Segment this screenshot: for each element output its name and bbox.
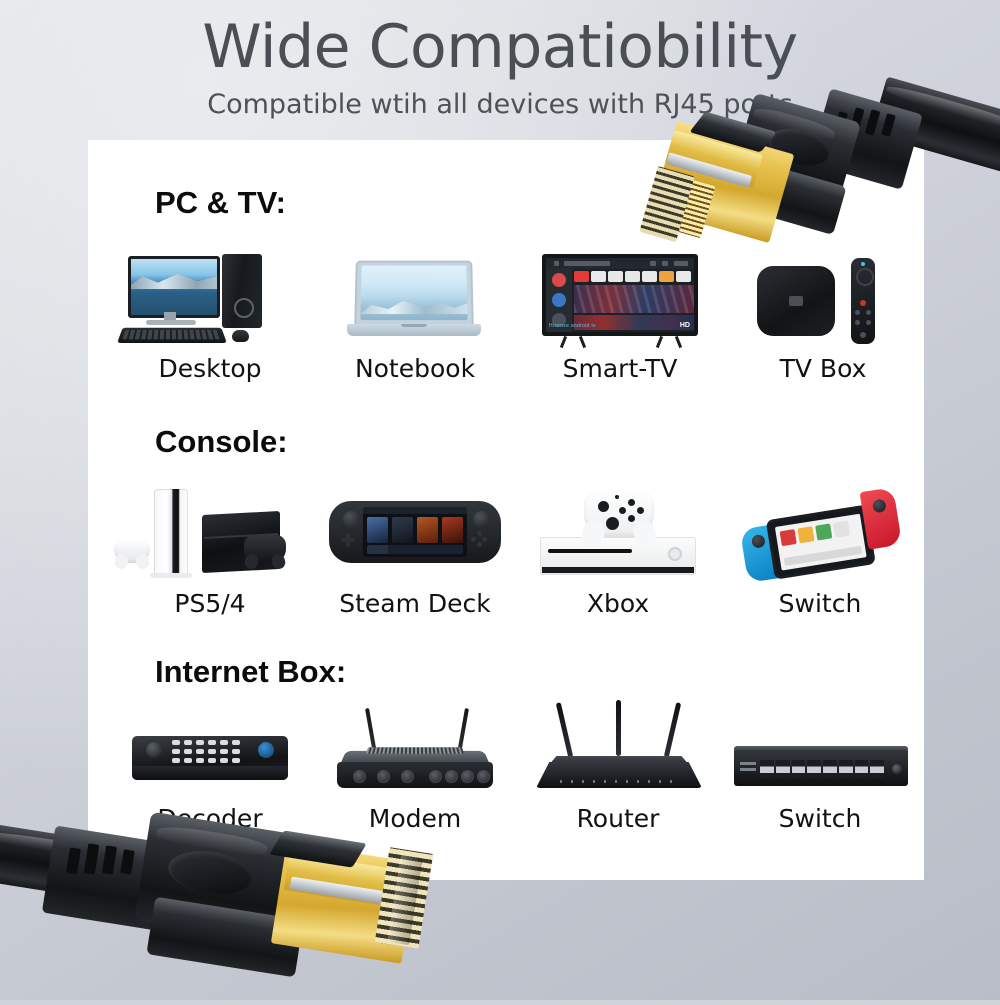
desktop-computer-icon	[110, 250, 310, 350]
steam-deck-icon	[315, 485, 515, 585]
device-item-notebook: Notebook	[315, 250, 515, 390]
infographic-canvas: Wide Compatiobility Compatible wtih all …	[0, 0, 1000, 1000]
device-label: Steam Deck	[315, 589, 515, 618]
device-label: Switch	[720, 804, 920, 833]
laptop-icon	[315, 250, 515, 350]
playstation-console-icon	[110, 485, 310, 585]
device-label: Switch	[720, 589, 920, 618]
device-label: Router	[518, 804, 718, 833]
rj45-ethernet-cable-bottom-left	[0, 790, 510, 1005]
device-label: PS5/4	[110, 589, 310, 618]
rj45-ethernet-cable-top-right	[640, 78, 1000, 293]
section-heading-pc-tv: PC & TV:	[155, 185, 286, 221]
device-label: TV Box	[723, 354, 923, 383]
device-item-network-switch: Switch	[720, 700, 920, 840]
device-item-desktop: Desktop	[110, 250, 310, 390]
device-item-nintendo-switch: Switch	[720, 485, 920, 625]
decoder-box-icon	[110, 700, 310, 800]
device-label: Xbox	[518, 589, 718, 618]
device-label: Notebook	[315, 354, 515, 383]
nintendo-switch-icon	[720, 485, 920, 585]
modem-icon	[315, 700, 515, 800]
device-item-router: Router	[518, 700, 718, 840]
network-switch-icon	[720, 700, 920, 800]
xbox-console-icon	[518, 485, 718, 585]
page-title: Wide Compatiobility	[0, 12, 1000, 82]
device-label: Smart-TV	[520, 354, 720, 383]
device-row-console: PS5/4	[110, 485, 910, 625]
router-icon	[518, 700, 718, 800]
device-item-playstation: PS5/4	[110, 485, 310, 625]
section-heading-internet-box: Internet Box:	[155, 654, 346, 690]
device-item-steam-deck: Steam Deck	[315, 485, 515, 625]
device-item-xbox: Xbox	[518, 485, 718, 625]
section-heading-console: Console:	[155, 424, 288, 460]
device-label: Desktop	[110, 354, 310, 383]
